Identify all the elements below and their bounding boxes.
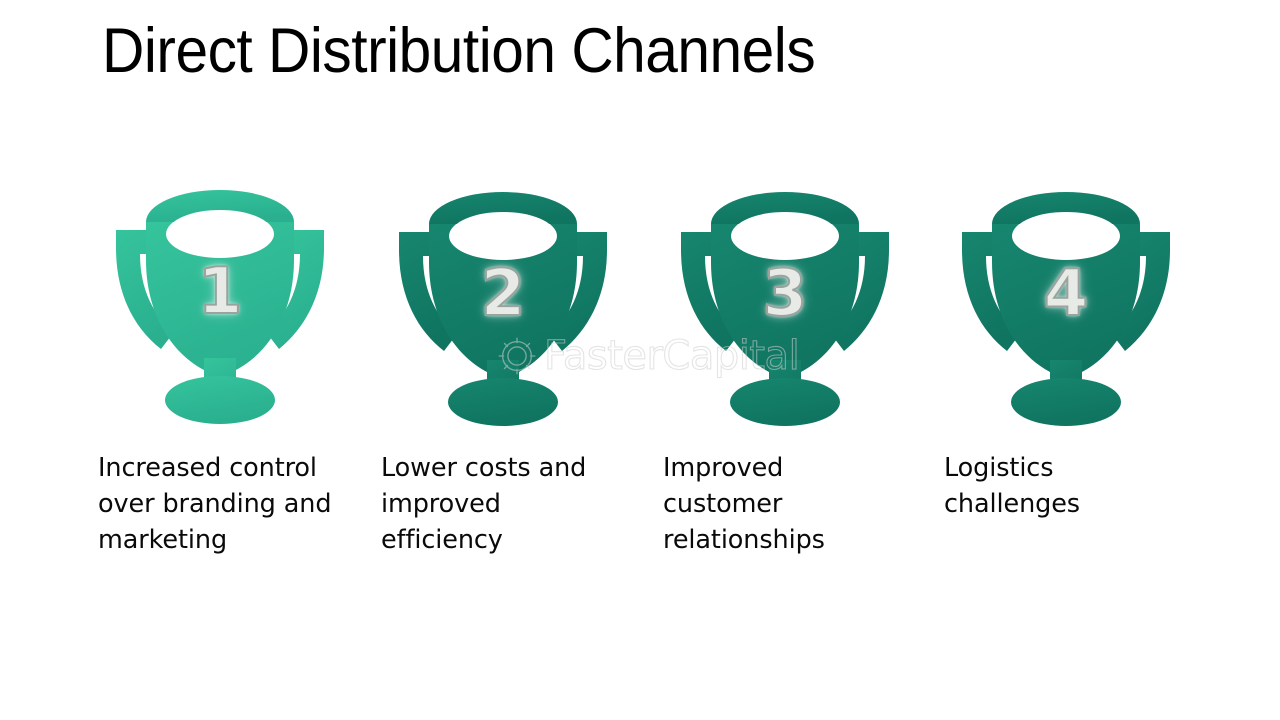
trophy-column-4: 4 Logistics challenges [944,0,1224,720]
trophy-item-3[interactable]: 3 [677,210,893,422]
trophy-number-3: 3 [677,262,893,326]
trophy-item-1[interactable]: 1 [112,208,328,420]
trophy-caption-2: Lower costs and improved efficiency [381,450,625,558]
trophy-column-3: 3 Improved customer relationships [663,0,943,720]
trophy-caption-3: Improved customer relationships [663,450,889,558]
trophy-caption-1: Increased control over branding and mark… [98,450,346,558]
trophy-caption-4: Logistics challenges [944,450,1174,522]
trophy-number-1: 1 [112,260,328,324]
trophy-number-4: 4 [958,262,1174,326]
trophy-columns: 1 Increased control over branding and ma… [0,0,1280,720]
trophy-item-4[interactable]: 4 [958,210,1174,422]
trophy-column-2: 2 Lower costs and improved efficiency [381,0,661,720]
trophy-number-2: 2 [395,262,611,326]
trophy-item-2[interactable]: 2 [395,210,611,422]
slide-canvas: Direct Distribution Channels [0,0,1280,720]
trophy-column-1: 1 Increased control over branding and ma… [98,0,378,720]
